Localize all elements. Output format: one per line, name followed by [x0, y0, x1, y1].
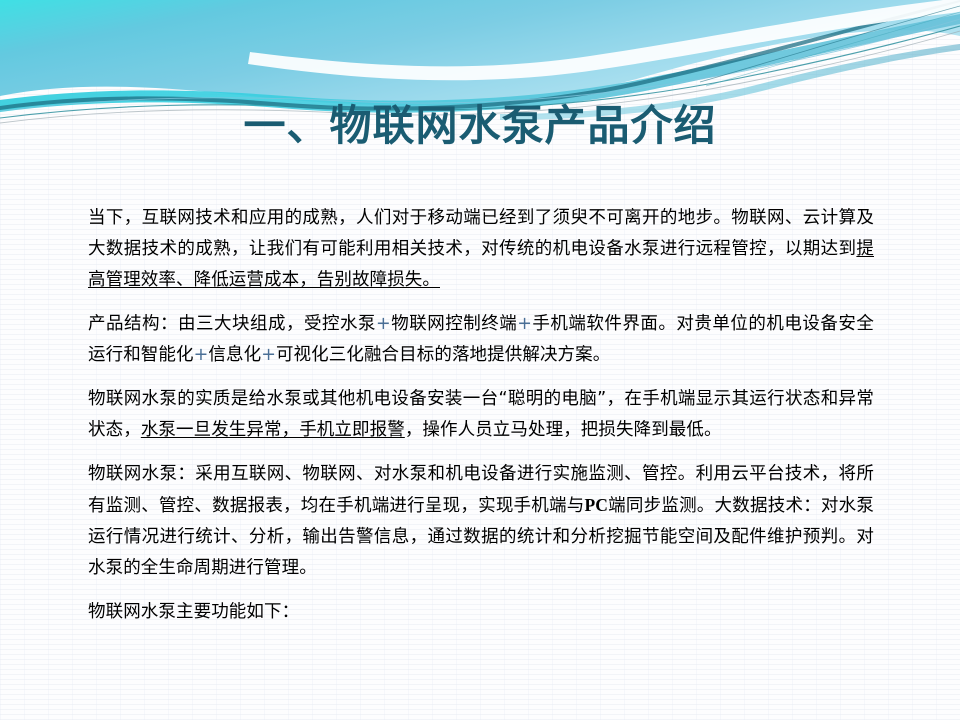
paragraph-4: 物联网水泵：采用互联网、物联网、对水泵和机电设备进行实施监测、管控。利用云平台技… — [88, 459, 874, 584]
text-run-latin: PC — [584, 495, 608, 515]
text-run: ，操作人员立马处理，把损失降到最低。 — [405, 420, 722, 440]
text-run-underlined: 水泵一旦发生异常，手机立即报警 — [141, 420, 405, 440]
slide-body: 当下，互联网技术和应用的成熟，人们对于移动端已经到了须臾不可离开的地步。物联网、… — [88, 203, 874, 628]
text-run: 产品结构：由三大块组成，受控水泵 — [88, 314, 376, 334]
paragraph-1: 当下，互联网技术和应用的成熟，人们对于移动端已经到了须臾不可离开的地步。物联网、… — [88, 203, 874, 296]
text-run: 物联网控制终端 — [391, 314, 517, 334]
presentation-slide: 一、物联网水泵产品介绍 当下，互联网技术和应用的成熟，人们对于移动端已经到了须臾… — [0, 0, 960, 720]
page-title: 一、物联网水泵产品介绍 — [0, 105, 960, 147]
plus-sign: + — [517, 314, 532, 334]
plus-sign: + — [376, 314, 391, 334]
paragraph-5: 物联网水泵主要功能如下： — [88, 597, 874, 628]
paragraph-2: 产品结构：由三大块组成，受控水泵+物联网控制终端+手机端软件界面。对贵单位的机电… — [88, 309, 874, 371]
paragraph-3: 物联网水泵的实质是给水泵或其他机电设备安装一台“聪明的电脑”，在手机端显示其运行… — [88, 384, 874, 446]
plus-sign: + — [194, 345, 209, 365]
text-run: 物联网水泵主要功能如下： — [88, 602, 299, 622]
text-run: 信息化 — [208, 345, 261, 365]
text-run: 当下，互联网技术和应用的成熟，人们对于移动端已经到了须臾不可离开的地步。物联网、… — [88, 208, 874, 259]
plus-sign: + — [261, 345, 276, 365]
text-run: 可视化三化融合目标的落地提供解决方案。 — [276, 345, 610, 365]
